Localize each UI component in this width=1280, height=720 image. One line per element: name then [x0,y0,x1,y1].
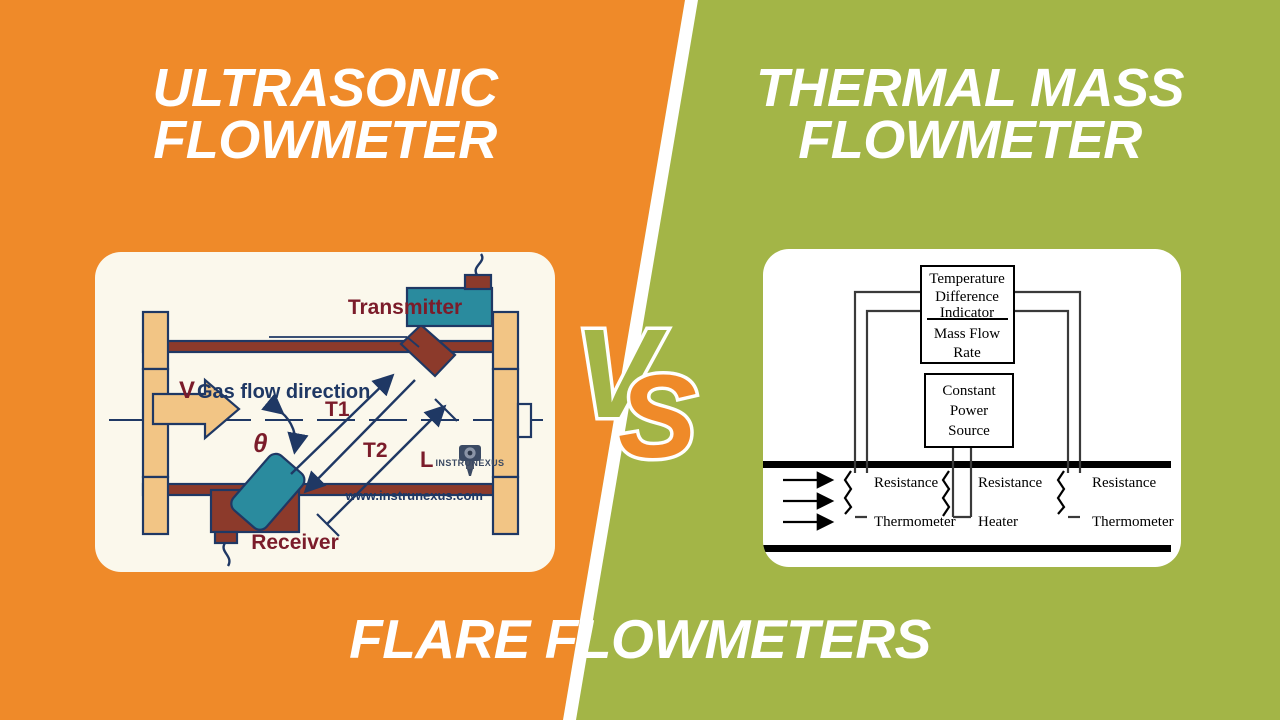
left-title-line-2: FLOWMETER [60,114,590,166]
sensor-1-line-2: Thermometer [874,514,956,530]
sensor-1-line-1: Resistance [874,475,938,491]
wire-right-outer [1014,292,1080,473]
receiver-label: Receiver [251,531,339,554]
versus-letter-s: S [618,351,697,465]
length-tick-upper [435,399,457,421]
right-title-line-1: THERMAL MASS [700,62,1240,114]
coil-heater [943,471,949,516]
receiver-cable [224,543,230,566]
ultrasonic-diagram-card: Transmitter Receiver V Gas flow directio… [95,252,555,572]
website-label: www.instrunexus.com [345,488,484,503]
path-label-l: L [420,447,433,472]
wire-left-outer [855,292,921,473]
wire-left-inner [867,311,921,473]
transmitter-connector [465,275,491,289]
comparison-graphic: ULTRASONIC FLOWMETER THERMAL MASS FLOWME… [0,0,1280,720]
receiver-connector [215,532,237,543]
sensor-2-line-2: Heater [978,514,1018,530]
coil-thermometer-right [1058,471,1064,514]
transmitter-cable [476,254,483,275]
coil-thermometer-left [845,471,851,514]
power-line-1: Constant [942,383,996,399]
indicator-box: Temperature Difference Indicator Mass Fl… [921,266,1014,363]
power-line-2: Power [950,403,988,419]
indicator-line-1: Temperature [929,271,1005,287]
right-title-line-2: FLOWMETER [700,114,1240,166]
pipe-wall-top [763,461,1171,468]
left-panel-title: ULTRASONIC FLOWMETER [60,62,590,167]
velocity-symbol: V [179,377,195,404]
sensor-2-line-1: Resistance [978,475,1042,491]
bottom-title: FLARE FLOWMETERS [0,607,1280,671]
pipe-wall-bottom [763,545,1171,552]
angle-arc [281,412,296,450]
flange-right [493,312,531,534]
sensor-3-line-2: Thermometer [1092,514,1174,530]
power-box: Constant Power Source [925,374,1013,447]
indicator-line-3: Indicator [940,305,994,321]
wire-right-inner [1014,311,1068,473]
thermal-mass-diagram-card: Temperature Difference Indicator Mass Fl… [763,249,1181,567]
indicator-line-4: Mass Flow [934,326,1000,342]
thermal-mass-diagram: Temperature Difference Indicator Mass Fl… [763,249,1181,567]
ultrasonic-diagram: Transmitter Receiver V Gas flow directio… [95,252,555,572]
left-title-line-1: ULTRASONIC [60,62,590,114]
indicator-line-5: Rate [953,345,981,361]
right-panel-title: THERMAL MASS FLOWMETER [700,62,1240,167]
path-label-t1: T1 [325,398,350,421]
versus-badge: V S [566,305,716,465]
pipe-wall-top [143,341,515,352]
sensor-3-line-1: Resistance [1092,475,1156,491]
transmitter-label: Transmitter [348,296,462,319]
power-line-3: Source [948,423,990,439]
path-label-t2: T2 [363,439,388,462]
angle-symbol: θ [253,428,268,458]
instrunexus-logo-text: INSTRUNEXUS [436,458,505,468]
indicator-line-2: Difference [935,289,999,305]
transmitter-wedge [401,325,455,376]
